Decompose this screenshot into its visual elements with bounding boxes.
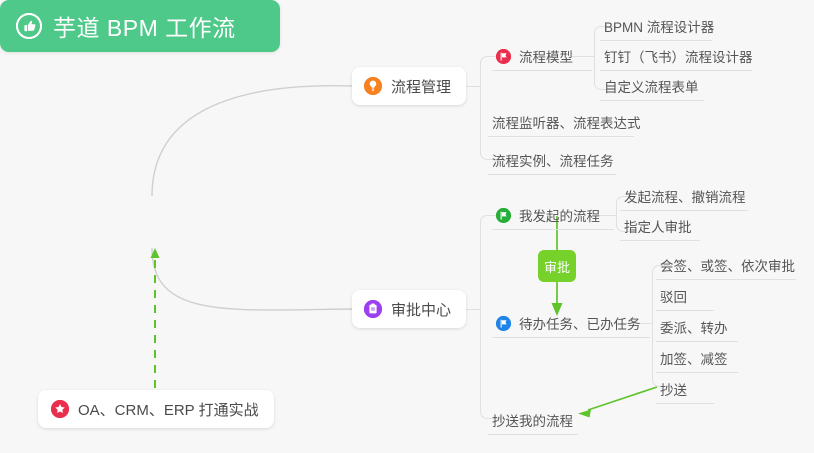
leaf-label: 流程监听器、流程表达式 bbox=[492, 112, 641, 132]
extra-node-label: OA、CRM、ERP 打通实战 bbox=[78, 399, 259, 420]
leaf-label: 流程模型 bbox=[519, 46, 573, 66]
flag-icon bbox=[496, 49, 511, 64]
leaf-underline bbox=[656, 372, 738, 373]
leaf-underline bbox=[656, 403, 714, 404]
leaf-custom-form[interactable]: 自定义流程表单 bbox=[600, 71, 707, 101]
leaf-start-cancel[interactable]: 发起流程、撤销流程 bbox=[620, 181, 754, 211]
clipboard-icon bbox=[364, 300, 382, 318]
leaf-listener-expression[interactable]: 流程监听器、流程表达式 bbox=[488, 107, 649, 137]
leaf-underline bbox=[492, 70, 592, 71]
leaf-process-model[interactable]: 流程模型 bbox=[492, 41, 581, 71]
mindmap-canvas: 芋道 BPM 工作流 流程管理 流程模型 BPMN 流程设计器 bbox=[0, 0, 814, 453]
leaf-label: 驳回 bbox=[660, 286, 687, 306]
approval-badge: 审批 bbox=[538, 250, 576, 282]
leaf-underline bbox=[492, 337, 650, 338]
leaf-assignee-approve[interactable]: 指定人审批 bbox=[620, 211, 700, 241]
approval-badge-label: 审批 bbox=[544, 257, 570, 276]
leaf-underline bbox=[488, 174, 616, 175]
leaf-underline bbox=[656, 310, 714, 311]
leaf-underline bbox=[656, 341, 738, 342]
leaf-cc[interactable]: 抄送 bbox=[656, 374, 695, 404]
thumbs-up-icon bbox=[16, 13, 42, 39]
leaf-underline bbox=[600, 100, 704, 101]
leaf-dingtalk-designer[interactable]: 钉钉（飞书）流程设计器 bbox=[600, 41, 761, 71]
leaf-underline bbox=[656, 279, 796, 280]
leaf-label: 加签、减签 bbox=[660, 348, 728, 368]
leaf-label: 待办任务、已办任务 bbox=[519, 313, 641, 333]
leaf-reject[interactable]: 驳回 bbox=[656, 281, 695, 311]
leaf-label: 抄送我的流程 bbox=[492, 410, 573, 430]
leaf-underline bbox=[488, 434, 578, 435]
flag-icon bbox=[496, 316, 511, 331]
leaf-underline bbox=[492, 229, 614, 230]
leaf-instance-task[interactable]: 流程实例、流程任务 bbox=[488, 145, 622, 175]
root-node[interactable]: 芋道 BPM 工作流 bbox=[0, 0, 280, 52]
lightbulb-icon bbox=[364, 77, 382, 95]
leaf-cc-to-me[interactable]: 抄送我的流程 bbox=[488, 405, 581, 435]
leaf-my-initiated[interactable]: 我发起的流程 bbox=[492, 200, 608, 230]
leaf-label: 发起流程、撤销流程 bbox=[624, 186, 746, 206]
leaf-todo-done-tasks[interactable]: 待办任务、已办任务 bbox=[492, 308, 649, 338]
leaf-label: 指定人审批 bbox=[624, 216, 692, 236]
leaf-bpmn-designer[interactable]: BPMN 流程设计器 bbox=[600, 11, 722, 41]
branch-node-process[interactable]: 流程管理 bbox=[352, 67, 466, 105]
root-label: 芋道 BPM 工作流 bbox=[53, 9, 236, 43]
leaf-label: 抄送 bbox=[660, 379, 687, 399]
flag-icon bbox=[496, 208, 511, 223]
leaf-label: 委派、转办 bbox=[660, 317, 728, 337]
leaf-label: 自定义流程表单 bbox=[604, 76, 699, 96]
branch-label-approval: 审批中心 bbox=[391, 299, 451, 320]
leaf-delegate-transfer[interactable]: 委派、转办 bbox=[656, 312, 736, 342]
leaf-label: 钉钉（飞书）流程设计器 bbox=[604, 46, 753, 66]
extra-node-integration[interactable]: OA、CRM、ERP 打通实战 bbox=[38, 390, 274, 428]
leaf-label: BPMN 流程设计器 bbox=[604, 16, 714, 36]
branch-node-approval[interactable]: 审批中心 bbox=[352, 290, 466, 328]
leaf-label: 会签、或签、依次审批 bbox=[660, 255, 795, 275]
leaf-underline bbox=[620, 240, 700, 241]
leaf-add-remove-sign[interactable]: 加签、减签 bbox=[656, 343, 736, 373]
leaf-label: 我发起的流程 bbox=[519, 205, 600, 225]
leaf-underline bbox=[488, 136, 634, 137]
leaf-countersign[interactable]: 会签、或签、依次审批 bbox=[656, 250, 803, 280]
leaf-label: 流程实例、流程任务 bbox=[492, 150, 614, 170]
star-icon bbox=[51, 400, 69, 418]
branch-label-process: 流程管理 bbox=[391, 76, 451, 97]
